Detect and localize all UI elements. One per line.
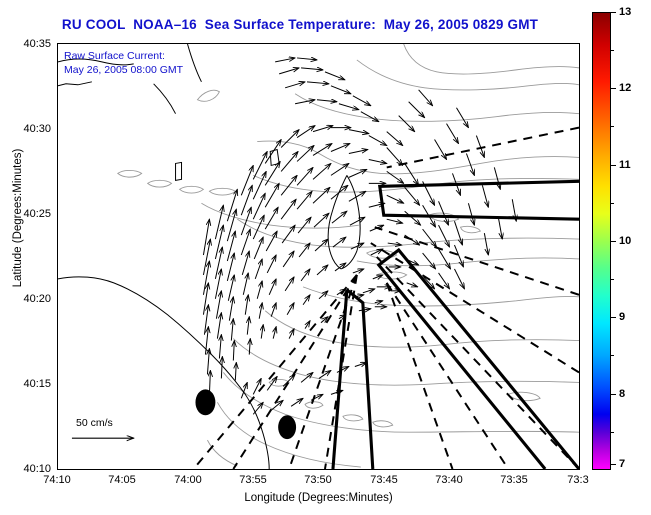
xtick-5: 73:45 <box>370 474 398 486</box>
cb-label-7: 7 <box>619 458 625 470</box>
xtick-2: 74:00 <box>174 474 202 486</box>
cb-tick-minor-1 <box>611 50 614 51</box>
station-marker-2 <box>278 415 296 439</box>
xtick-1: 74:05 <box>108 474 136 486</box>
xtick-8: 73:3 <box>567 474 588 486</box>
xtick-4: 73:50 <box>304 474 332 486</box>
cb-label-8: 8 <box>619 388 625 400</box>
x-axis-label: Longitude (Degrees:Minutes) <box>57 492 580 504</box>
cb-label-13: 13 <box>619 6 631 18</box>
cb-tick-8 <box>611 394 616 395</box>
ytick-0: 40:35 <box>9 38 51 50</box>
cb-tick-minor-6 <box>611 432 614 433</box>
cb-tick-11 <box>611 165 616 166</box>
cb-tick-10 <box>611 241 616 242</box>
map-canvas <box>58 44 579 469</box>
xtick-0: 74:10 <box>43 474 71 486</box>
figure-root: RU COOL NOAA–16 Sea Surface Temperature:… <box>0 0 651 515</box>
ytick-1: 40:30 <box>9 123 51 135</box>
cb-label-10: 10 <box>619 235 631 247</box>
colorbar-gradient <box>592 12 611 470</box>
cb-tick-9 <box>611 317 616 318</box>
radar-station-markers <box>195 389 296 439</box>
cb-label-9: 9 <box>619 311 625 323</box>
scale-legend: 50 cm/s <box>70 417 180 451</box>
map-plot-area[interactable]: Raw Surface Current:May 26, 2005 08:00 G… <box>57 43 580 470</box>
scale-legend-label: 50 cm/s <box>76 417 113 429</box>
cb-tick-12 <box>611 88 616 89</box>
xtick-6: 73:40 <box>435 474 463 486</box>
cb-tick-minor-5 <box>611 355 614 356</box>
xtick-3: 73:55 <box>239 474 267 486</box>
cb-tick-minor-3 <box>611 203 614 204</box>
xtick-7: 73:35 <box>500 474 528 486</box>
ytick-5: 40:10 <box>9 463 51 475</box>
cb-tick-7 <box>611 464 616 465</box>
cb-tick-minor-4 <box>611 279 614 280</box>
cb-tick-minor-2 <box>611 126 614 127</box>
station-marker-1 <box>195 389 215 415</box>
cb-label-11: 11 <box>619 159 631 171</box>
y-axis-label: Latitude (Degrees:Minutes) <box>12 138 24 298</box>
ytick-4: 40:15 <box>9 378 51 390</box>
page-title: RU COOL NOAA–16 Sea Surface Temperature:… <box>0 17 600 32</box>
cb-label-12: 12 <box>619 82 631 94</box>
cb-tick-13 <box>611 12 616 13</box>
sst-contour-lines <box>118 44 579 467</box>
colorbar: 13 12 11 10 9 8 7 <box>592 12 611 470</box>
